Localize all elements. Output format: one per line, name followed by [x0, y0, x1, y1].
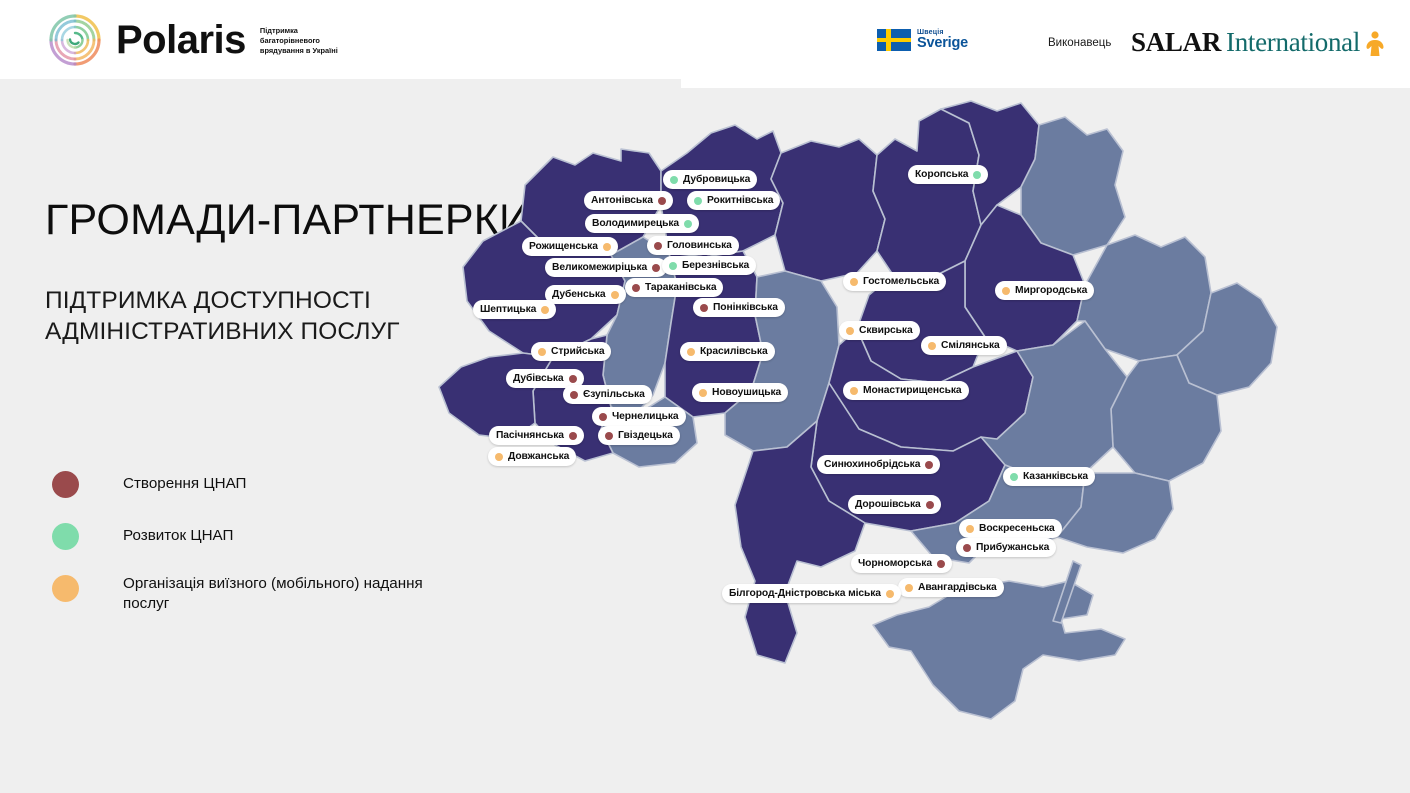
legend-item-mobile: Організація виїзного (мобільного) наданн… [52, 574, 442, 615]
marker-label: Дубровицька [683, 174, 750, 185]
marker-dot-mobile [699, 389, 707, 397]
marker-dot-mobile [603, 243, 611, 251]
marker-dot-mobile [611, 291, 619, 299]
region-kyiv [873, 109, 981, 279]
map-marker-pill[interactable]: Смілянська [921, 336, 1007, 355]
marker-label: Сквирська [859, 325, 913, 336]
polaris-spiral-logo [44, 12, 106, 68]
map-marker-pill[interactable]: Стрийська [531, 342, 611, 361]
marker-label: Гостомельська [863, 276, 939, 287]
marker-label: Чорноморська [858, 558, 932, 569]
marker-dot-create [652, 264, 660, 272]
marker-dot-create [937, 560, 945, 568]
map-marker-pill[interactable]: Монастирищенська [843, 381, 969, 400]
map-marker-pill[interactable]: Тараканівська [625, 278, 723, 297]
marker-dot-mobile [928, 342, 936, 350]
page-subtitle-line-1: ПІДТРИМКА ДОСТУПНОСТІ [45, 285, 400, 316]
marker-label: Тараканівська [645, 282, 716, 293]
map-marker-pill[interactable]: Сквирська [839, 321, 920, 340]
marker-dot-create [925, 461, 933, 469]
map-marker-pill[interactable]: Синюхинобрідська [817, 455, 940, 474]
marker-dot-develop [669, 262, 677, 270]
map-marker-pill[interactable]: Довжанська [488, 447, 576, 466]
marker-dot-create [569, 432, 577, 440]
marker-label: Новоушицька [712, 387, 781, 398]
map-marker-pill[interactable]: Новоушицька [692, 383, 788, 402]
swedish-flag-icon [877, 29, 911, 51]
marker-label: Красилівська [700, 346, 768, 357]
map-marker-pill[interactable]: Понінківська [693, 298, 785, 317]
marker-dot-create [658, 197, 666, 205]
map-marker-pill[interactable]: Дубенська [545, 285, 626, 304]
marker-label: Прибужанська [976, 542, 1049, 553]
legend-label-develop: Розвиток ЦНАП [123, 522, 233, 546]
marker-label: Чернелицька [612, 411, 679, 422]
marker-dot-create [654, 242, 662, 250]
marker-label: Великомежиріцька [552, 262, 647, 273]
salar-person-icon [1365, 30, 1385, 56]
marker-dot-mobile [541, 306, 549, 314]
marker-dot-develop [973, 171, 981, 179]
legend-dot-mobile [52, 575, 79, 602]
marker-dot-create [700, 304, 708, 312]
map-marker-pill[interactable]: Чорноморська [851, 554, 952, 573]
marker-dot-create [599, 413, 607, 421]
legend-item-create: Створення ЦНАП [52, 470, 442, 498]
map-marker-pill[interactable]: Єзупільська [563, 385, 652, 404]
map-marker-pill[interactable]: Красилівська [680, 342, 775, 361]
map-marker-pill[interactable]: Коропська [908, 165, 988, 184]
marker-label: Антонівська [591, 195, 653, 206]
map-marker-pill[interactable]: Шептицька [473, 300, 556, 319]
map-marker-pill[interactable]: Рокитнівська [687, 191, 780, 210]
map-marker-pill[interactable]: Березнівська [662, 256, 756, 275]
map-marker-pill[interactable]: Казанківська [1003, 467, 1095, 486]
marker-label: Дубівська [513, 373, 564, 384]
marker-dot-create [570, 391, 578, 399]
marker-label: Єзупільська [583, 389, 645, 400]
marker-label: Дорошівська [855, 499, 921, 510]
legend-dot-develop [52, 523, 79, 550]
marker-label: Гвіздецька [618, 430, 673, 441]
marker-label: Воскресеньска [979, 523, 1055, 534]
legend-item-develop: Розвиток ЦНАП [52, 522, 442, 550]
marker-dot-mobile [886, 590, 894, 598]
logo-tagline: Підтримка багаторівневого врядування в У… [260, 26, 352, 55]
marker-dot-create [605, 432, 613, 440]
ukraine-map-svg [425, 95, 1400, 720]
marker-dot-mobile [905, 584, 913, 592]
map-marker-pill[interactable]: Прибужанська [956, 538, 1056, 557]
region-zhytomyr [771, 139, 885, 281]
marker-dot-mobile [1002, 287, 1010, 295]
salar-international-logo: SALAR International [1131, 27, 1385, 58]
map-marker-pill[interactable]: Антонівська [584, 191, 673, 210]
marker-label: Коропська [915, 169, 968, 180]
marker-dot-mobile [687, 348, 695, 356]
region-crimea [873, 581, 1125, 719]
marker-label: Пасічнянська [496, 430, 564, 441]
ukraine-map [425, 95, 1400, 720]
marker-label: Смілянська [941, 340, 1000, 351]
marker-dot-create [569, 375, 577, 383]
marker-label: Довжанська [508, 451, 569, 462]
marker-dot-develop [684, 220, 692, 228]
map-marker-pill[interactable]: Гвіздецька [598, 426, 680, 445]
marker-label: Володимирецька [592, 218, 679, 229]
marker-label: Синюхинобрідська [824, 459, 920, 470]
marker-label: Головинська [667, 240, 732, 251]
marker-dot-create [926, 501, 934, 509]
marker-label: Миргородська [1015, 285, 1087, 296]
map-marker-pill[interactable]: Гостомельська [843, 272, 946, 291]
marker-dot-develop [1010, 473, 1018, 481]
map-marker-pill[interactable]: Воскресеньска [959, 519, 1062, 538]
marker-label: Рожищенська [529, 241, 598, 252]
legend: Створення ЦНАП Розвиток ЦНАП Організація… [52, 470, 442, 639]
marker-dot-mobile [538, 348, 546, 356]
marker-dot-mobile [966, 525, 974, 533]
marker-label: Авангардівська [918, 582, 997, 593]
marker-label: Білгород-Дністровська міська [729, 588, 881, 599]
marker-label: Шептицька [480, 304, 536, 315]
marker-dot-mobile [495, 453, 503, 461]
map-marker-pill[interactable]: Пасічнянська [489, 426, 584, 445]
marker-dot-create [963, 544, 971, 552]
map-marker-pill[interactable]: Володимирецька [585, 214, 699, 233]
map-marker-pill[interactable]: Білгород-Дністровська міська [722, 584, 901, 603]
page-subtitle-line-2: АДМІНІСТРАТИВНИХ ПОСЛУГ [45, 316, 400, 347]
marker-label: Дубенська [552, 289, 606, 300]
legend-label-create: Створення ЦНАП [123, 470, 246, 494]
executor-label: Виконавець [1048, 37, 1111, 49]
marker-dot-mobile [846, 327, 854, 335]
salar-wordmark-light: International [1226, 27, 1360, 58]
slide-root: Polaris Підтримка багаторівневого врядув… [0, 0, 1410, 793]
marker-dot-mobile [850, 387, 858, 395]
map-marker-pill[interactable]: Дорошівська [848, 495, 941, 514]
legend-dot-create [52, 471, 79, 498]
marker-label: Понінківська [713, 302, 778, 313]
map-marker-pill[interactable]: Великомежиріцька [545, 258, 667, 277]
marker-label: Казанківська [1023, 471, 1088, 482]
map-marker-pill[interactable]: Головинська [647, 236, 739, 255]
sweden-logo: Швеція Sverige [877, 29, 968, 52]
marker-label: Стрийська [551, 346, 604, 357]
map-marker-pill[interactable]: Авангардівська [898, 578, 1004, 597]
map-marker-pill[interactable]: Дубровицька [663, 170, 757, 189]
sweden-label-sv: Sverige [917, 36, 968, 51]
page-subtitle: ПІДТРИМКА ДОСТУПНОСТІ АДМІНІСТРАТИВНИХ П… [45, 285, 400, 348]
map-marker-pill[interactable]: Рожищенська [522, 237, 618, 256]
marker-dot-create [632, 284, 640, 292]
marker-label: Монастирищенська [863, 385, 962, 396]
logo-wordmark: Polaris [116, 20, 246, 60]
marker-dot-mobile [850, 278, 858, 286]
marker-dot-develop [670, 176, 678, 184]
polaris-logo: Polaris Підтримка багаторівневого врядув… [44, 16, 352, 64]
map-marker-pill[interactable]: Миргородська [995, 281, 1094, 300]
legend-label-mobile: Організація виїзного (мобільного) наданн… [123, 574, 423, 615]
marker-label: Березнівська [682, 260, 749, 271]
map-marker-pill[interactable]: Чернелицька [592, 407, 686, 426]
salar-wordmark-bold: SALAR [1131, 27, 1221, 58]
marker-label: Рокитнівська [707, 195, 773, 206]
marker-dot-develop [694, 197, 702, 205]
